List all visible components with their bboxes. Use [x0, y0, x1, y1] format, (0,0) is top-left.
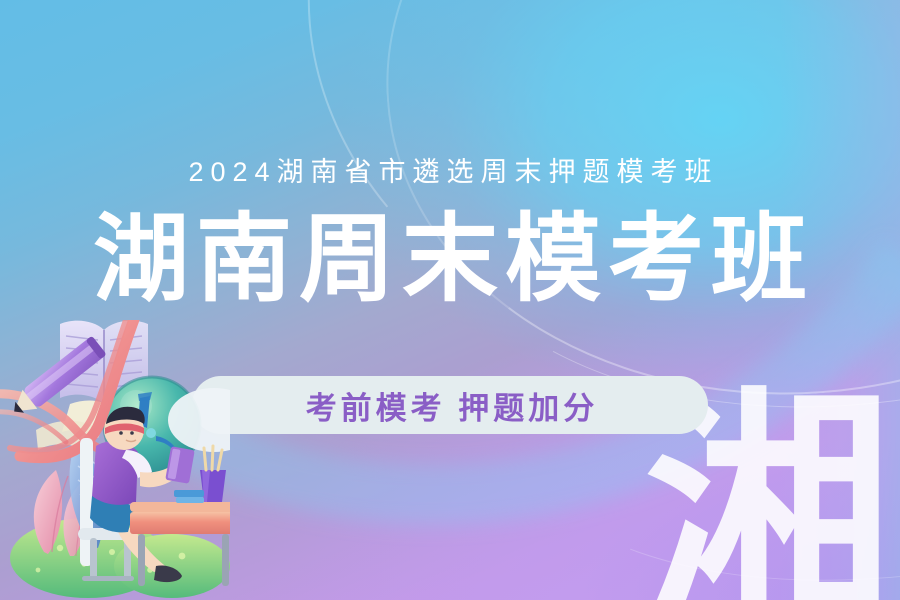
page-title: 湖南周末模考班 — [0, 206, 900, 314]
student-illustration — [0, 320, 230, 600]
promotional-banner: 湘 2024湖南省市遴选周末押题模考班 湖南周末模考班 考前模考 押题加分 — [0, 0, 900, 600]
banner-subtitle: 2024湖南省市遴选周末押题模考班 — [0, 150, 900, 189]
status-badge: 考前模考 押题加分 — [192, 376, 708, 434]
